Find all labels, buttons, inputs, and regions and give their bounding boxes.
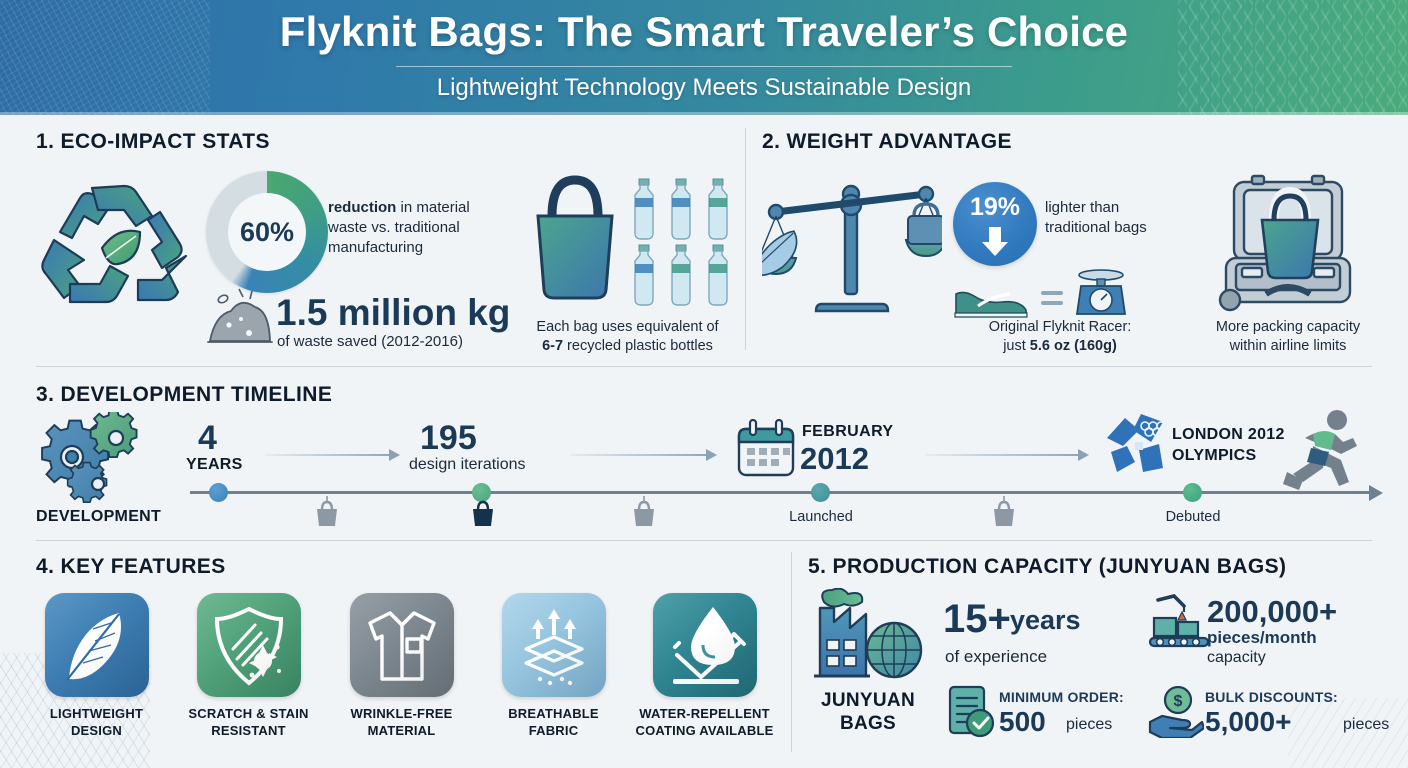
bottles-grid [629,178,737,307]
timeline-bag-marker-icon [314,496,340,528]
timeline-years-unit: YEARS [186,456,243,474]
company-line1: JUNYUAN [821,690,915,711]
feature-label-line1: WATER-REPELLENT [639,706,770,721]
eco-reduction-text: reduction in material waste vs. traditio… [328,198,508,258]
feature-label: BREATHABLE FABRIC [477,706,630,739]
bulk-discount-label: BULK DISCOUNTS: [1205,689,1338,705]
timeline-bag-marker-icon [470,496,496,528]
down-arrow-icon [989,227,1001,243]
section-title-production-capacity: 5. PRODUCTION CAPACITY (JUNYUAN BAGS) [808,555,1286,579]
feature-label-line2: RESISTANT [211,723,286,738]
section-title-development-timeline: 3. DEVELOPMENT TIMELINE [36,383,332,407]
bag-to-bottles-icon [530,172,620,304]
waste-saved-sub: of waste saved (2012-2016) [277,333,463,350]
min-order-unit: pieces [1066,716,1112,734]
balance-scale-feather-bag-icon [762,172,942,320]
bulk-discount-value: 5,000+ [1205,706,1291,738]
feature-label-line2: DESIGN [71,723,122,738]
timeline-bag-marker-icon [991,496,1017,528]
timeline-launch-month: FEBRUARY [802,423,894,441]
bottles-caption-bold: 6-7 [542,338,563,354]
timeline-years-value: 4 [198,419,217,458]
timeline-arrow-2 [570,454,715,456]
feature-card-scratch-stain-resistant[interactable]: SCRATCH & STAIN RESISTANT [172,593,325,739]
section-title-weight-advantage: 2. WEIGHT ADVANTAGE [762,130,1012,154]
capacity-sub: capacity [1207,649,1266,667]
bottle-icon [629,244,659,306]
hand-money-icon: $ [1148,686,1204,738]
capacity-value: 200,000+ [1207,594,1337,630]
factory-globe-icon [810,588,928,688]
experience-sub: of experience [945,647,1047,667]
recycle-arrows-leaf-icon [40,180,200,310]
feature-label: SCRATCH & STAIN RESISTANT [172,706,325,739]
suitcase-caption: More packing capacity within airline lim… [1188,318,1388,355]
shirt-icon-tile [350,593,454,697]
feature-label-line2: COATING AVAILABLE [636,723,774,738]
bottles-caption-line1: Each bag uses equivalent of [536,319,718,335]
company-name-label: JUNYUAN BAGS [806,690,930,736]
timeline-launched-label: Launched [761,509,881,525]
feature-label: WATER-REPELLENT COATING AVAILABLE [628,706,781,739]
bottles-caption: Each bag uses equivalent of 6-7 recycled… [515,318,740,355]
header-bottom-rule [0,112,1408,115]
london-2012-olympics-logo-icon [1105,412,1171,478]
development-label: DEVELOPMENT [36,508,161,526]
section-title-eco-impact: 1. ECO-IMPACT STATS [36,130,270,154]
timeline-olympics-label: LONDON 2012 OLYMPICS [1172,424,1285,466]
min-order-label: MINIMUM ORDER: [999,689,1124,705]
feature-label-line2: FABRIC [529,723,579,738]
feature-card-breathable-fabric[interactable]: BREATHABLE FABRIC [477,593,630,739]
feature-label-line1: LIGHTWEIGHT [50,706,143,721]
infographic-page: Flyknit Bags: The Smart Traveler’s Choic… [0,0,1408,768]
suitcase-caption-line2: within airline limits [1230,338,1347,354]
calendar-icon [735,419,797,479]
suitcase-caption-line1: More packing capacity [1216,319,1360,335]
feature-label: LIGHTWEIGHT DESIGN [20,706,173,739]
experience-unit: years [1010,605,1081,636]
bottles-caption-line2-rest: recycled plastic bottles [563,338,713,354]
feature-label-line2: MATERIAL [368,723,436,738]
section-title-key-features: 4. KEY FEATURES [36,555,226,579]
min-order-value: 500 [999,706,1046,738]
timeline-dot-1[interactable] [209,483,228,502]
bottle-icon [629,178,659,240]
racer-caption-bold: 5.6 oz (160g) [1030,338,1117,354]
svg-text:$: $ [1174,693,1183,710]
timeline-bag-marker-icon [631,496,657,528]
feature-card-water-repellent[interactable]: WATER-REPELLENT COATING AVAILABLE [628,593,781,739]
divider-s4-s5 [791,552,792,752]
feature-label-line1: WRINKLE-FREE [350,706,452,721]
donut-value: 60% [240,217,294,248]
company-line2: BAGS [840,713,896,734]
runner-icon [1277,408,1361,494]
robot-arm-conveyor-icon [1148,592,1212,654]
bottle-icon [703,244,733,306]
racer-caption-line1: Original Flyknit Racer: [989,319,1132,335]
suitcase-with-bag-icon [1212,172,1364,312]
feature-label-line1: BREATHABLE [508,706,599,721]
capacity-unit: pieces/month [1207,628,1317,648]
waste-pile-icon [207,285,273,347]
timeline-dot-4[interactable] [1183,483,1202,502]
timeline-dot-3[interactable] [811,483,830,502]
weight-reduction-badge: 19% [953,182,1037,266]
racer-caption: Original Flyknit Racer: just 5.6 oz (160… [950,318,1170,355]
experience-value: 15+ [943,597,1011,642]
olympics-line1: LONDON 2012 [1172,426,1285,443]
page-subtitle: Lightweight Technology Meets Sustainable… [0,74,1408,102]
eco-reduction-bold: reduction [328,199,396,216]
weight-badge-text: lighter than traditional bags [1045,198,1180,238]
feature-card-wrinkle-free-material[interactable]: WRINKLE-FREE MATERIAL [325,593,478,739]
timeline-iterations-value: 195 [420,419,477,458]
airflow-layers-icon-tile [502,593,606,697]
racer-caption-prefix: just [1003,338,1030,354]
feature-card-lightweight-design[interactable]: LIGHTWEIGHT DESIGN [20,593,173,739]
weight-reduction-value: 19% [953,193,1037,222]
divider-row2-row3 [36,540,1372,541]
title-divider [396,66,1012,67]
timeline-launch-year: 2012 [800,441,869,477]
document-check-icon [946,685,998,739]
timeline-debuted-label: Debuted [1133,509,1253,525]
bottle-icon [703,178,733,240]
shield-stain-icon-tile [197,593,301,697]
bottle-icon [666,178,696,240]
timeline-arrow-3 [925,454,1087,456]
bottle-icon [666,244,696,306]
equals-icon [1041,291,1063,305]
divider-s1-s2 [745,128,746,350]
feature-label: WRINKLE-FREE MATERIAL [325,706,478,739]
waste-saved-value: 1.5 million kg [276,292,510,334]
bulk-discount-unit: pieces [1343,716,1389,734]
eco-reduction-donut-chart: 60% [206,171,328,293]
timeline-arrow-1 [265,454,398,456]
feature-label-line1: SCRATCH & STAIN [188,706,308,721]
feather-icon-tile [45,593,149,697]
page-header: Flyknit Bags: The Smart Traveler’s Choic… [0,0,1408,115]
flyknit-racer-shoe-icon [952,284,1030,318]
olympics-line2: OLYMPICS [1172,447,1257,464]
divider-row1-row2 [36,366,1372,367]
page-title: Flyknit Bags: The Smart Traveler’s Choic… [0,8,1408,56]
gears-icon [40,412,162,504]
kitchen-scale-icon [1073,268,1129,318]
water-droplet-repel-icon-tile [653,593,757,697]
timeline-iterations-unit: design iterations [409,456,526,474]
